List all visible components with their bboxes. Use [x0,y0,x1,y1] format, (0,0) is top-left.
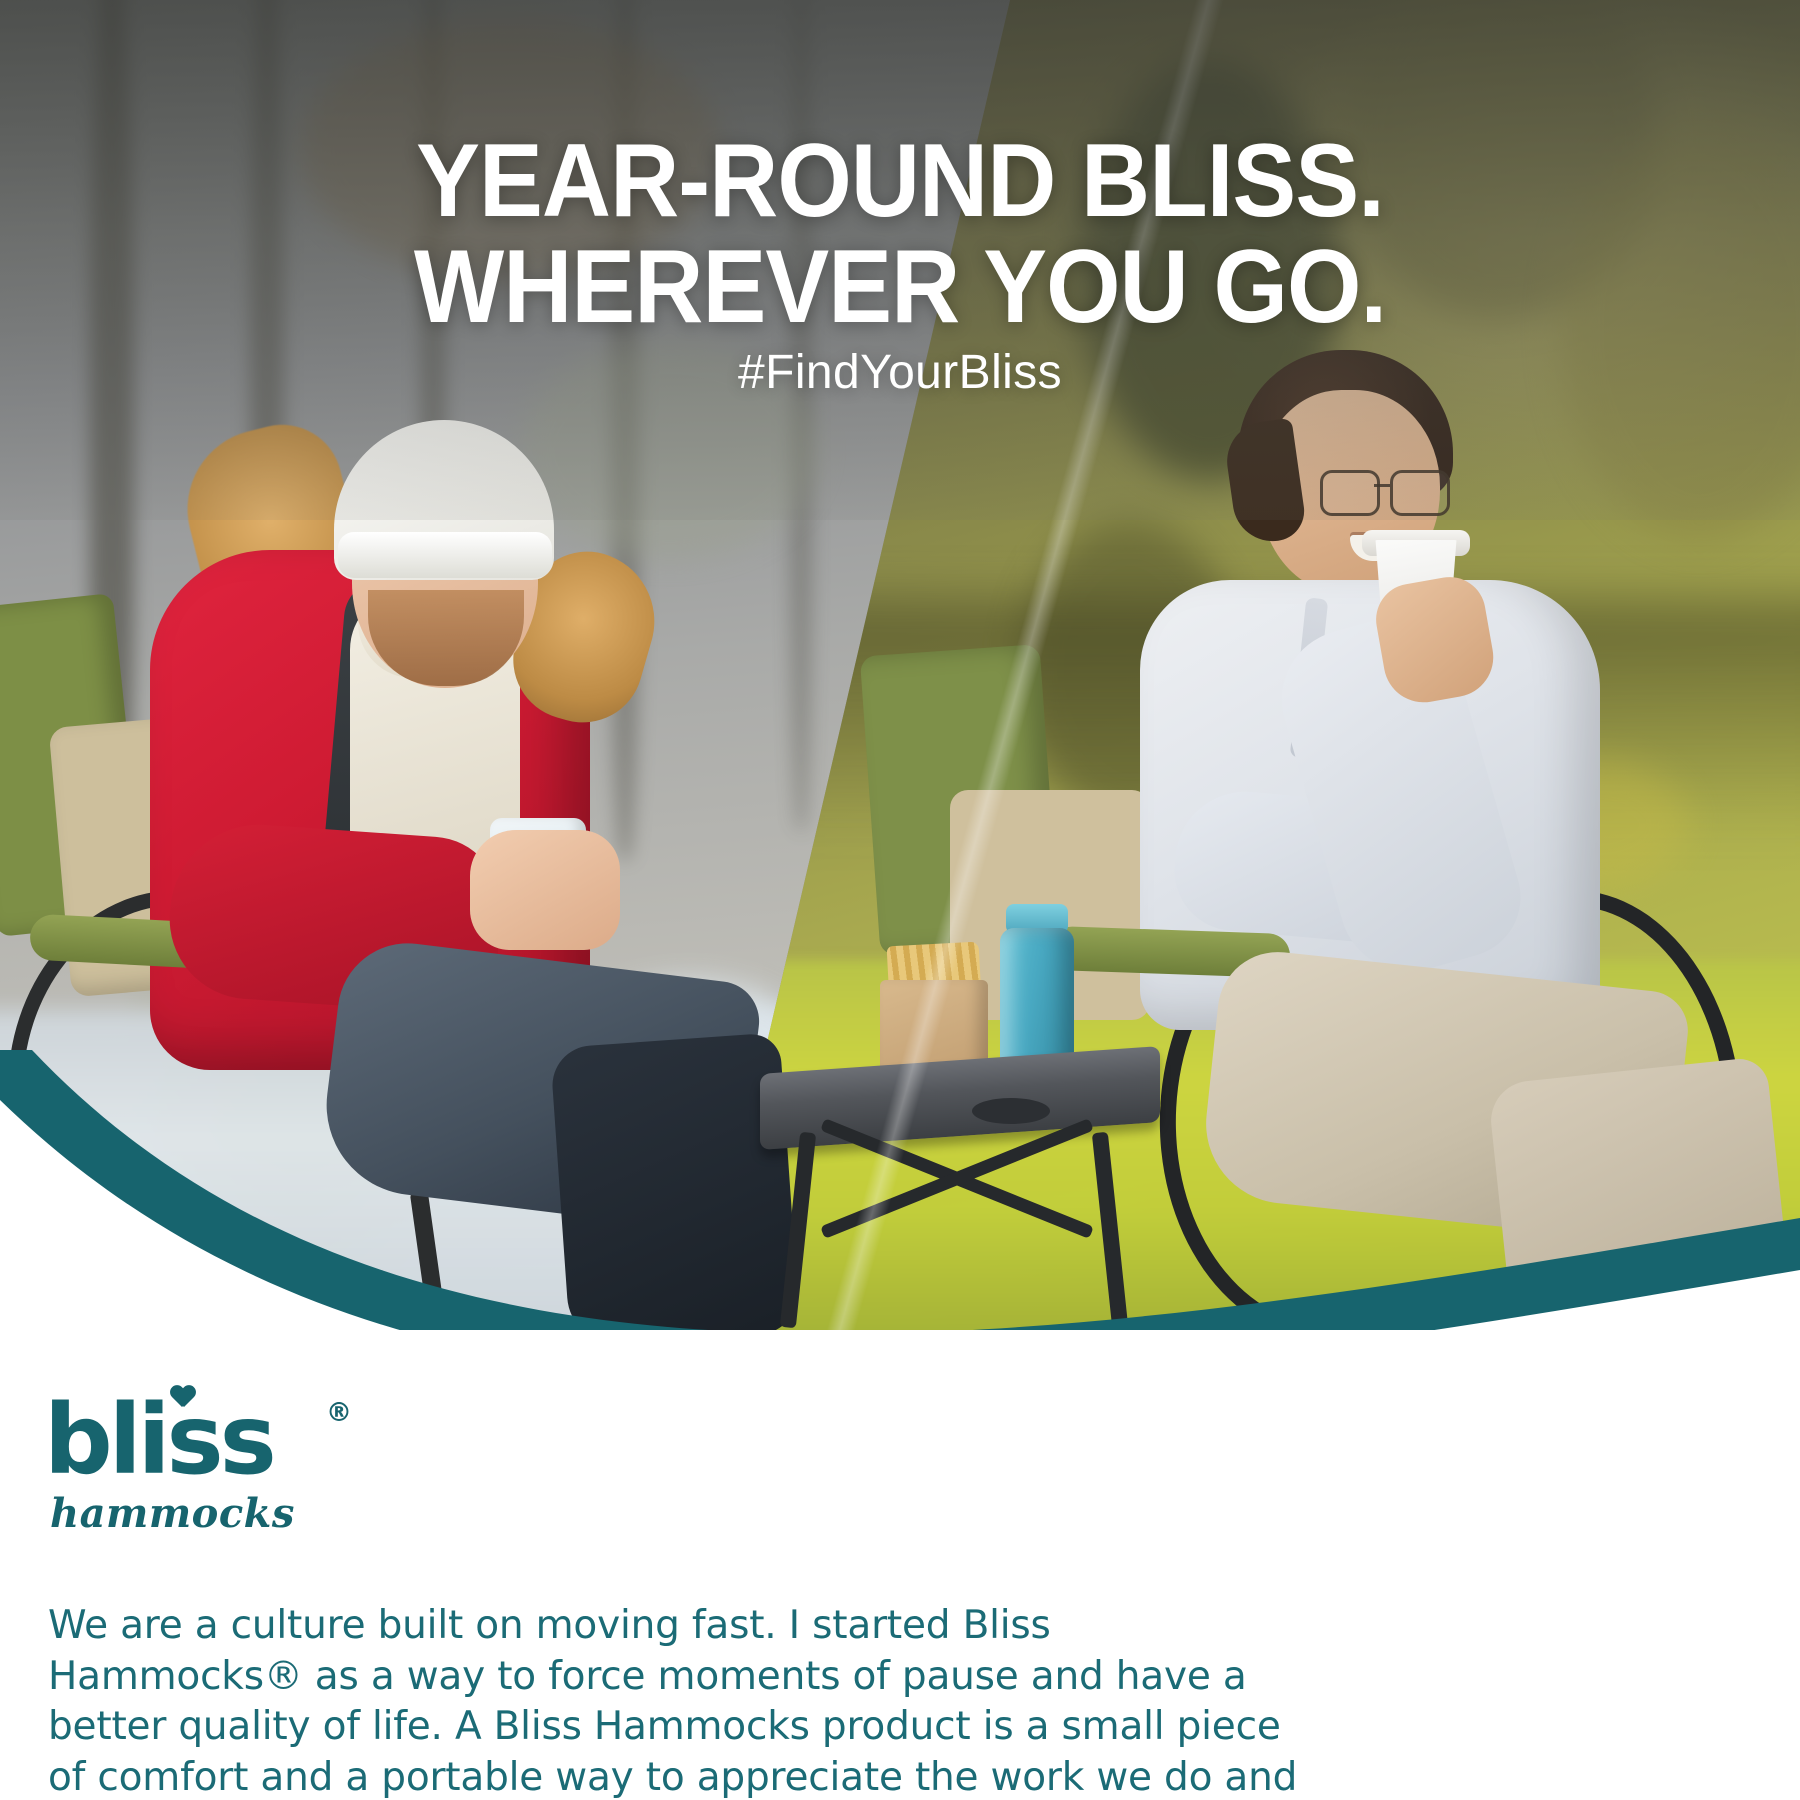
logo-word-text: bliss [44,1384,273,1496]
beanie-cuff [338,532,552,578]
registered-mark: ® [326,1400,348,1426]
eyeglasses [1320,470,1450,510]
lens-left [1320,470,1380,516]
heart-icon [170,1386,196,1410]
table-leg [1092,1132,1128,1329]
glasses-bridge [1374,484,1390,487]
page-title: YEAR-ROUND BLISS. WHEREVER YOU GO. [0,128,1800,340]
brand-logo[interactable]: bliss ® hammocks [44,1392,344,1532]
headline-line-2: WHEREVER YOU GO. [72,234,1728,340]
cup-holder [972,1098,1050,1124]
hands [470,830,620,950]
folding-side-table [760,1040,1190,1330]
lens-right [1390,470,1450,516]
table-legs [782,1132,1132,1330]
footer: bliss ® hammocks We are a culture built … [0,1330,1800,1800]
winter-man-figure [0,400,760,1330]
logo-wordmark: bliss ® [44,1392,344,1488]
table-leg [780,1132,816,1329]
campaign-hashtag: #FindYourBliss [0,345,1800,400]
logo-subtext: hammocks [50,1490,295,1537]
chair-leg [410,1189,449,1330]
founder-quote: We are a culture built on moving fast. I… [48,1601,1298,1800]
headline-line-1: YEAR-ROUND BLISS. [72,128,1728,234]
ad-canvas: YEAR-ROUND BLISS. WHEREVER YOU GO. #Find… [0,0,1800,1800]
khaki-pants-shin [1487,1056,1793,1330]
